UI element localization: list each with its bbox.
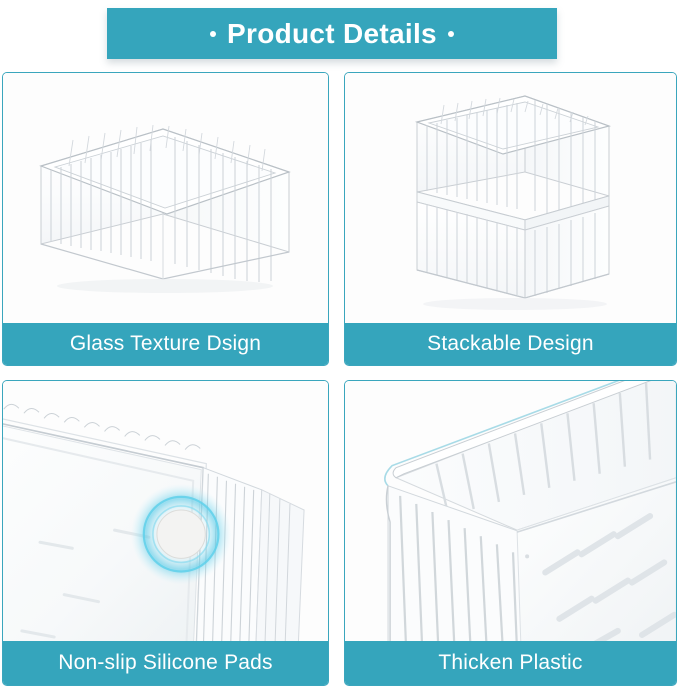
feature-panel-stackable: Stackable Design (344, 72, 677, 366)
product-image-silicone-pads (3, 381, 328, 641)
bullet-dot-right-icon (448, 31, 454, 37)
page-title-text: Product Details (227, 20, 437, 48)
feature-label-thicken-plastic: Thicken Plastic (345, 641, 676, 685)
product-image-thicken-plastic (345, 381, 676, 641)
feature-panel-glass-texture: Glass Texture Dsign (2, 72, 329, 366)
product-image-glass-texture (3, 73, 328, 323)
bin-illustration-single (3, 73, 328, 323)
header-banner: Product Details (107, 8, 557, 59)
feature-label-silicone-pads: Non-slip Silicone Pads (3, 641, 328, 685)
page-title: Product Details (210, 20, 454, 48)
bin-illustration-stacked (345, 73, 676, 323)
product-details-infographic: Product Details (0, 0, 679, 688)
feature-panel-silicone-pads: Non-slip Silicone Pads (2, 380, 329, 686)
bin-underside-illustration (3, 381, 328, 641)
feature-label-glass-texture: Glass Texture Dsign (3, 323, 328, 365)
feature-label-stackable: Stackable Design (345, 323, 676, 365)
product-image-stackable (345, 73, 676, 323)
bullet-dot-left-icon (210, 31, 216, 37)
silicone-pad-highlight (131, 484, 232, 585)
bin-corner-closeup-illustration (345, 381, 676, 641)
feature-grid: Glass Texture Dsign (0, 72, 679, 688)
feature-panel-thicken-plastic: Thicken Plastic (344, 380, 677, 686)
